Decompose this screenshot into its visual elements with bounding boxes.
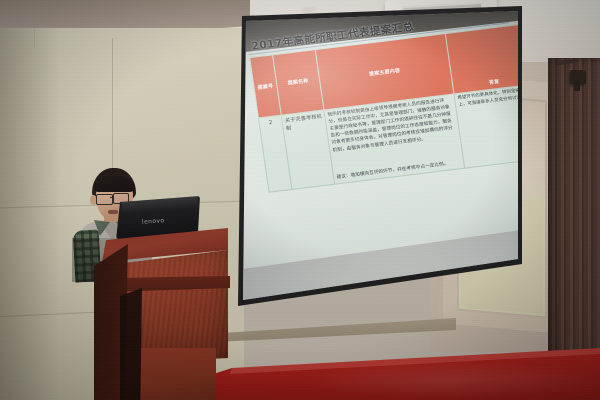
cell-proposal-reply: 希望环节的更具体化，特别是操作层面上，可直接联系人员充分地讨论。: [454, 84, 522, 168]
proposal-content-text: 我所的考核机制是由上级领导根据考核人员的报告进行评分，但是在实际工作中，尤其是管…: [327, 99, 453, 153]
wooden-podium: [96, 228, 228, 400]
cell-proposal-content: 我所的考核机制是由上级领导根据考核人员的报告进行评分，但是在实际工作中，尤其是管…: [324, 94, 465, 184]
wall-shadow: [0, 28, 60, 400]
mouth: [108, 210, 118, 214]
security-camera-icon: [570, 70, 586, 84]
lenovo-logo: lenovo: [142, 217, 165, 226]
column-header-reply: 答复: [445, 23, 522, 93]
stage-floor-highlight: [300, 360, 600, 400]
glasses-bridge: [110, 197, 114, 198]
dark-wood-slat-wall: [548, 58, 600, 358]
glasses-icon: [96, 194, 113, 205]
podium-shadow-gap: [120, 288, 142, 400]
projection-screen: 2017年高能所职工代表提案汇总 提案号 提案名称 提案主要内容 答复 2: [196, 6, 522, 316]
proposal-suggestion-text: 建议：增加横向互评的环节，并在考核中占一定比例。: [336, 159, 461, 181]
hair-fringe: [93, 176, 135, 192]
presentation-slide: 2017年高能所职工代表提案汇总 提案号 提案名称 提案主要内容 答复 2: [240, 6, 522, 271]
conference-room-photo: 2017年高能所职工代表提案汇总 提案号 提案名称 提案主要内容 答复 2: [0, 0, 600, 400]
